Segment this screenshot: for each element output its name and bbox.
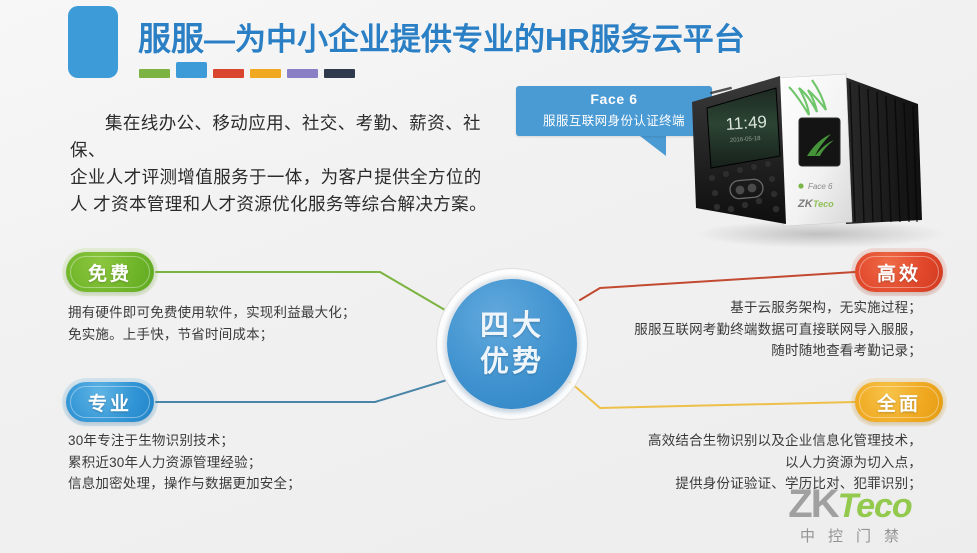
advantage-pill-free-label: 免费 [88, 259, 132, 286]
advantage-text-free: 拥有硬件即可免费使用软件，实现利益最大化； 免实施。上手快，节省时间成本； [68, 302, 356, 345]
watermark-teco-text: Teco [838, 487, 912, 526]
advantage-text-line: 随时随地查看考勤记录； [634, 340, 922, 362]
advantage-pill-professional[interactable]: 专业 [66, 382, 154, 422]
advantage-pill-free[interactable]: 免费 [66, 252, 154, 292]
hub-four-advantages: 四大 优势 [447, 279, 577, 409]
advantage-text-line: 累积近30年人力资源管理经验； [68, 452, 301, 474]
advantage-text-efficient: 基于云服务架构，无实施过程； 服服互联网考勤终端数据可直接联网导入服服， 随时随… [634, 297, 922, 362]
watermark-chinese-text: 中控门禁 [735, 525, 965, 546]
advantage-pill-comprehensive-label: 全面 [877, 389, 921, 416]
advantage-text-line: 免实施。上手快，节省时间成本； [68, 324, 356, 346]
watermark-zk-text: ZK [788, 482, 837, 527]
advantage-pill-efficient-label: 高效 [877, 259, 921, 286]
advantage-text-line: 信息加密处理，操作与数据更加安全； [68, 473, 301, 495]
advantage-text-line: 拥有硬件即可免费使用软件，实现利益最大化； [68, 302, 356, 324]
advantage-text-line: 服服互联网考勤终端数据可直接联网导入服服， [634, 319, 922, 341]
advantage-text-line: 基于云服务架构，无实施过程； [634, 297, 922, 319]
advantage-pill-comprehensive[interactable]: 全面 [855, 382, 943, 422]
advantage-pill-professional-label: 专业 [88, 389, 132, 416]
advantage-text-line: 高效结合生物识别以及企业信息化管理技术， [648, 430, 922, 452]
hub-line-2: 优势 [480, 344, 544, 380]
slide-canvas: 服服—为中小企业提供专业的HR服务云平台 集在线办公、移动应用、社交、考勤、薪资… [0, 0, 977, 553]
zkteco-watermark: ZK Teco 中控门禁 [735, 482, 965, 548]
advantage-pill-efficient[interactable]: 高效 [855, 252, 943, 292]
advantage-text-line: 以人力资源为切入点， [648, 452, 922, 474]
hub-line-1: 四大 [480, 308, 544, 344]
advantage-text-professional: 30年专注于生物识别技术； 累积近30年人力资源管理经验； 信息加密处理，操作与… [68, 430, 301, 495]
advantage-text-line: 30年专注于生物识别技术； [68, 430, 301, 452]
watermark-wordmark: ZK Teco [735, 482, 965, 527]
